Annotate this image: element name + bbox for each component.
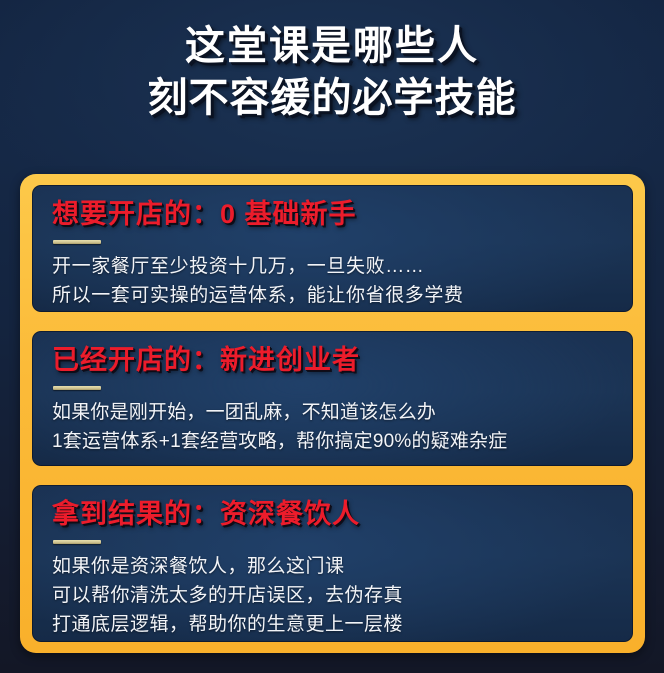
card-body-line: 打通底层逻辑，帮助你的生意更上一层楼 [52, 610, 613, 639]
title-line-1: 这堂课是哪些人 [0, 20, 664, 72]
card-body-line: 所以一套可实操的运营体系，能让你省很多学费 [52, 281, 613, 310]
title-line-2: 刻不容缓的必学技能 [0, 72, 664, 124]
card-body-line: 如果你是刚开始，一团乱麻，不知道该怎么办 [52, 398, 613, 427]
audience-card-veteran: 拿到结果的：资深餐饮人 如果你是资深餐饮人，那么这门课 可以帮你清洗太多的开店误… [32, 485, 633, 642]
audience-card-beginner: 想要开店的：0 基础新手 开一家餐厅至少投资十几万，一旦失败…… 所以一套可实操… [32, 185, 633, 312]
card-heading: 已经开店的：新进创业者 [52, 343, 613, 377]
card-heading: 拿到结果的：资深餐饮人 [52, 497, 613, 531]
card-body-line: 开一家餐厅至少投资十几万，一旦失败…… [52, 252, 613, 281]
promo-poster: 这堂课是哪些人 刻不容缓的必学技能 想要开店的：0 基础新手 开一家餐厅至少投资… [0, 0, 664, 673]
card-heading: 想要开店的：0 基础新手 [52, 197, 613, 231]
poster-title: 这堂课是哪些人 刻不容缓的必学技能 [0, 20, 664, 124]
heading-divider [53, 240, 101, 244]
audience-cards-frame: 想要开店的：0 基础新手 开一家餐厅至少投资十几万，一旦失败…… 所以一套可实操… [20, 174, 645, 653]
card-body-line: 如果你是资深餐饮人，那么这门课 [52, 552, 613, 581]
card-body-line: 1套运营体系+1套经营攻略，帮你搞定90%的疑难杂症 [52, 427, 613, 456]
card-body-line: 可以帮你清洗太多的开店误区，去伪存真 [52, 581, 613, 610]
heading-divider [53, 540, 101, 544]
heading-divider [53, 386, 101, 390]
audience-card-new-owner: 已经开店的：新进创业者 如果你是刚开始，一团乱麻，不知道该怎么办 1套运营体系+… [32, 331, 633, 466]
